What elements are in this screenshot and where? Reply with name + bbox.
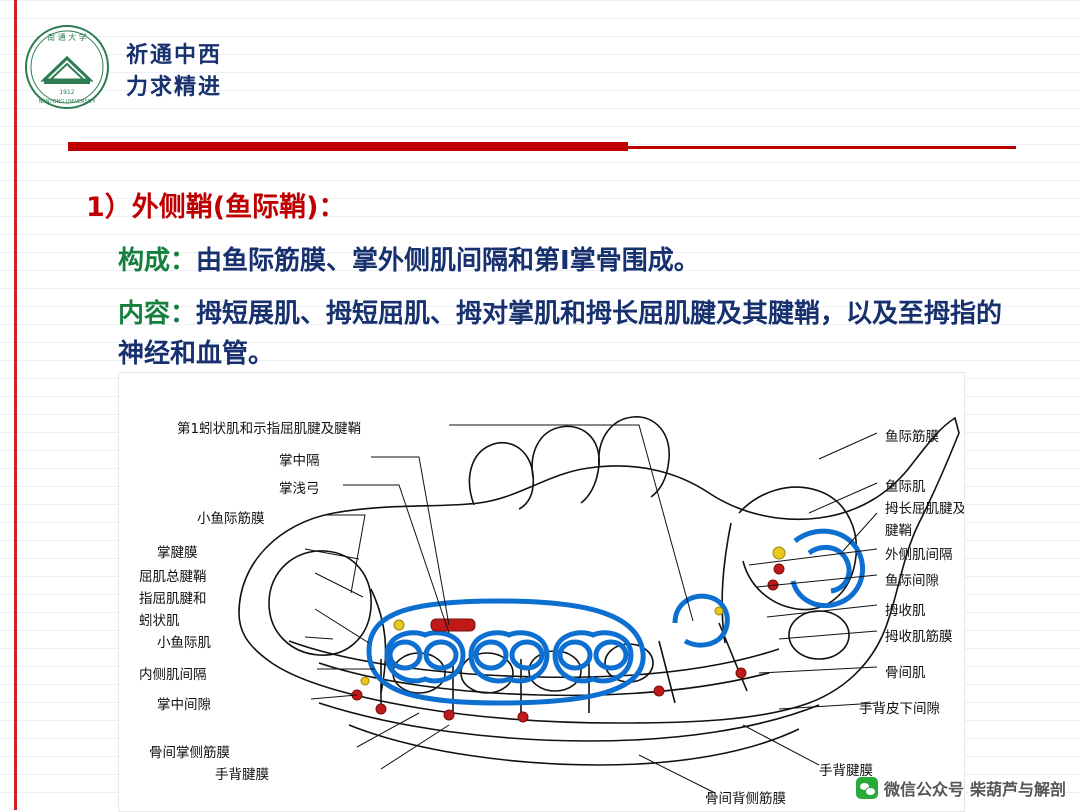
slide-header: 南 通 大 学 1912 NANTONG UNIVERSITY 祈通中西 力求精… [0, 0, 1080, 135]
figure-label-right-7: 拇收肌 [885, 599, 926, 619]
section-heading: 1）外侧鞘(鱼际鞘)： [86, 185, 345, 224]
figure-label-left-1: 第1蚓状肌和示指屈肌腱及腱鞘 [177, 417, 361, 437]
university-slogan: 祈通中西 力求精进 [126, 40, 222, 104]
slogan-line-2: 力求精进 [126, 72, 222, 104]
svg-text:1912: 1912 [59, 89, 74, 96]
figure-label-left-6: 屈肌总腱鞘 [139, 565, 207, 585]
figure-label-right-8: 拇收肌筋膜 [885, 625, 953, 645]
figure-label-left-10: 内侧肌间隔 [139, 663, 207, 683]
figure-label-left-7: 指屈肌腱和 [139, 587, 207, 607]
svg-text:南 通 大 学: 南 通 大 学 [47, 32, 87, 42]
figure-label-left-4: 小鱼际筋膜 [197, 507, 265, 527]
figure-label-right-10: 手背皮下间隙 [859, 697, 940, 717]
figure-label-right-6: 鱼际间隙 [885, 569, 939, 589]
header-divider-thick [68, 142, 628, 151]
composition-label: 构成： [118, 246, 196, 276]
figure-label-right-4: 腱鞘 [885, 519, 912, 539]
composition-row: 构成：由鱼际筋膜、掌外侧肌间隔和第Ⅰ掌骨围成。 [118, 240, 700, 277]
figure-label-left-8: 蚓状肌 [139, 609, 180, 629]
figure-label-left-11: 掌中间隙 [157, 693, 211, 713]
svg-text:NANTONG UNIVERSITY: NANTONG UNIVERSITY [39, 99, 97, 105]
wechat-icon [856, 777, 878, 799]
figure-label-left-5: 掌腱膜 [157, 541, 198, 561]
anatomy-figure: 第1蚓状肌和示指屈肌腱及腱鞘 掌中隔 掌浅弓 小鱼际筋膜 掌腱膜 屈肌总腱鞘 指… [118, 372, 965, 812]
content-label: 内容： [118, 299, 196, 329]
content-row: 内容：拇短展肌、拇短屈肌、拇对掌肌和拇长屈肌腱及其腱鞘，以及至拇指的神经和血管。 [118, 294, 1018, 374]
figure-label-right-5: 外侧肌间隔 [885, 543, 953, 563]
hand-cross-section-drawing [119, 373, 964, 811]
figure-label-right-9: 骨间肌 [885, 661, 926, 681]
figure-label-left-3: 掌浅弓 [279, 477, 320, 497]
figure-label-left-2: 掌中隔 [279, 449, 320, 469]
figure-label-left-12: 骨间掌侧筋膜 [149, 741, 230, 761]
content-text: 拇短展肌、拇短屈肌、拇对掌肌和拇长屈肌腱及其腱鞘，以及至拇指的神经和血管。 [118, 299, 1002, 369]
watermark-text: 柴葫芦与解剖 [970, 776, 1066, 800]
slogan-line-1: 祈通中西 [126, 40, 222, 72]
watermark-prefix: 微信公众号 [884, 776, 964, 800]
university-logo-icon: 南 通 大 学 1912 NANTONG UNIVERSITY [24, 24, 110, 110]
wechat-watermark: 微信公众号 柴葫芦与解剖 [856, 776, 1066, 800]
figure-label-right-12: 骨间背侧筋膜 [705, 787, 786, 807]
figure-label-left-13: 手背腱膜 [215, 763, 269, 783]
figure-label-right-2: 鱼际肌 [885, 475, 926, 495]
figure-label-left-9: 小鱼际肌 [157, 631, 211, 651]
figure-label-right-1: 鱼际筋膜 [885, 425, 939, 445]
figure-label-right-3: 拇长屈肌腱及 [885, 497, 965, 517]
header-divider-thin [628, 146, 1016, 149]
composition-text: 由鱼际筋膜、掌外侧肌间隔和第Ⅰ掌骨围成。 [196, 246, 700, 276]
